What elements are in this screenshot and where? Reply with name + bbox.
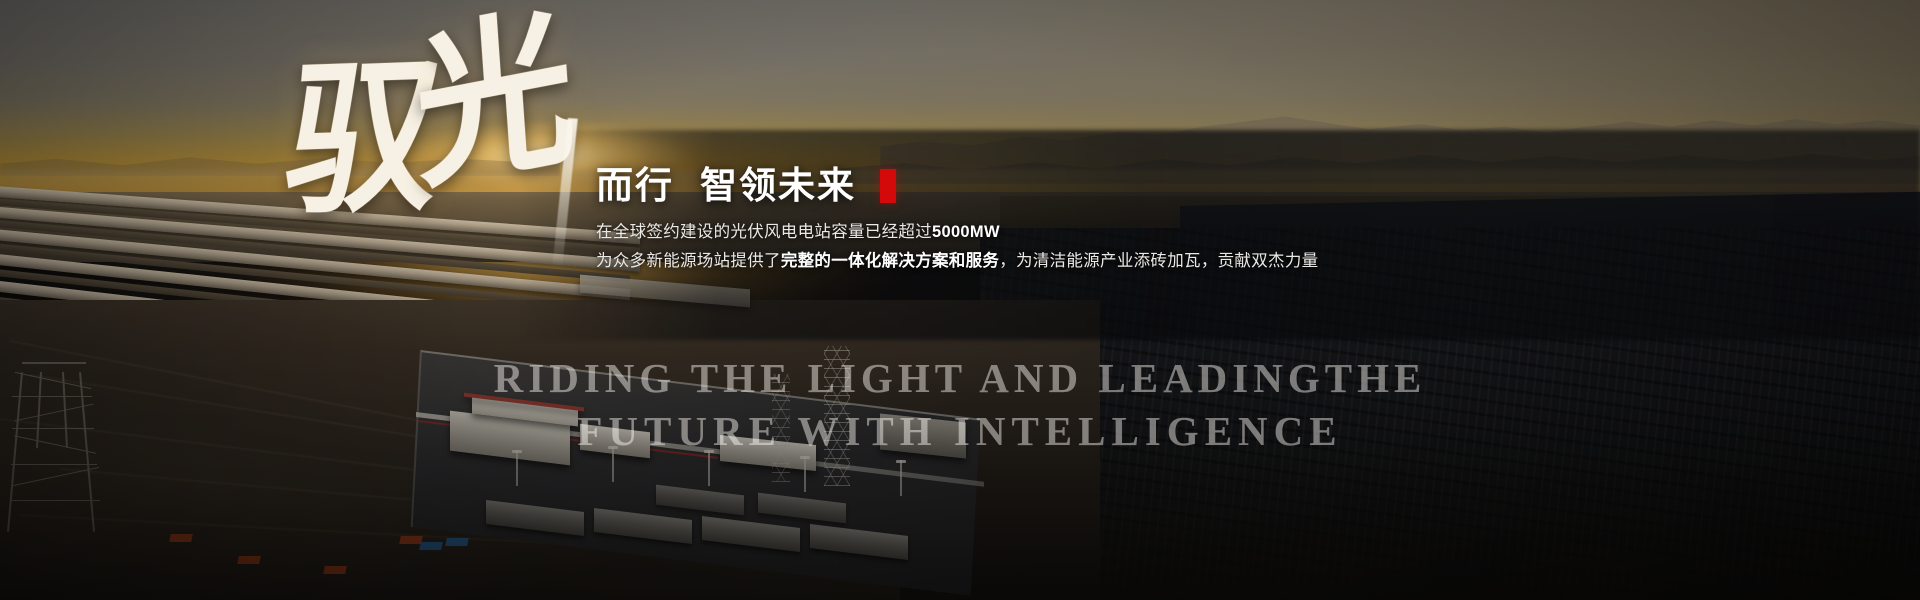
subtitle-line-1-text: 在全球签约建设的光伏风电电站容量已经超过	[596, 223, 932, 241]
subtitle-capacity-value: 5000MW	[932, 223, 1000, 241]
subtitle-line-2: 为众多新能源场站提供了完整的一体化解决方案和服务，为清洁能源产业添砖加瓦，贡献双…	[596, 248, 1316, 275]
subtitle-line-1: 在全球签约建设的光伏风电电站容量已经超过5000MW	[596, 219, 1316, 246]
page-title: 而行 智领未来	[596, 166, 1316, 206]
headline-part-1: 而行	[596, 166, 674, 206]
headline-part-2: 智领未来	[700, 166, 856, 206]
subtitle-line-2-suffix: ，为清洁能源产业添砖加瓦，贡献双杰力量	[999, 252, 1318, 270]
hero-banner: 驭光 而行 智领未来 在全球签约建设的光伏风电电站容量已经超过5000MW 为众…	[0, 0, 1920, 600]
calligraphy-char-2: 光	[410, 3, 574, 202]
accent-block	[880, 169, 896, 203]
subtitle-line-2-prefix: 为众多新能源场站提供了	[596, 252, 781, 270]
hero-copy-block: 而行 智领未来 在全球签约建设的光伏风电电站容量已经超过5000MW 为众多新能…	[596, 166, 1316, 274]
subtitle-line-2-strong: 完整的一体化解决方案和服务	[781, 252, 999, 270]
